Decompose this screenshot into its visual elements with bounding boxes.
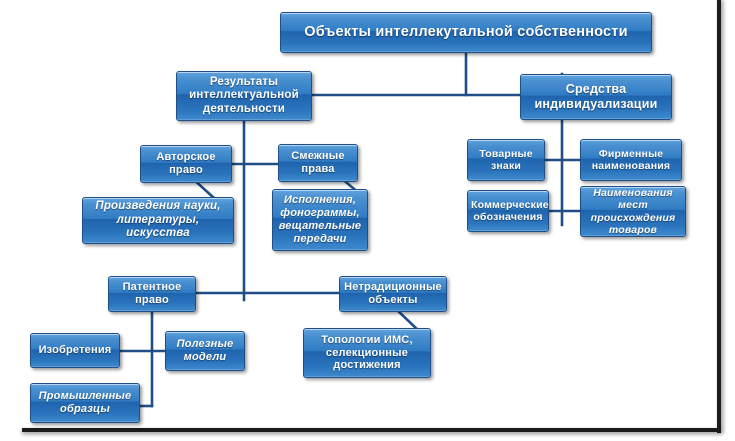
- node-results[interactable]: Результаты интеллектуальной деятельности: [176, 71, 312, 121]
- node-topologies-label: Топологии ИМС, селекционные достижения: [307, 334, 427, 373]
- node-copyright-label: Авторское право: [144, 151, 228, 177]
- node-works-label: Произведения науки, литературы, искусств…: [86, 200, 230, 241]
- node-industrial[interactable]: Промышленные образцы: [30, 383, 140, 423]
- node-patent[interactable]: Патентное право: [108, 276, 196, 312]
- node-root-label: Объекты интеллекутальной собственности: [284, 24, 648, 41]
- node-topologies[interactable]: Топологии ИМС, селекционные достижения: [303, 328, 431, 378]
- node-neighboring[interactable]: Смежные права: [278, 144, 358, 182]
- node-origin-label: Наименования мест происхождения товаров: [584, 187, 682, 237]
- node-industrial-label: Промышленные образцы: [34, 390, 136, 416]
- node-root[interactable]: Объекты интеллекутальной собственности: [280, 12, 652, 53]
- node-origin[interactable]: Наименования мест происхождения товаров: [580, 186, 686, 237]
- node-patent-label: Патентное право: [112, 281, 192, 307]
- node-results-label: Результаты интеллектуальной деятельности: [180, 76, 308, 117]
- node-works[interactable]: Произведения науки, литературы, искусств…: [82, 197, 234, 244]
- node-neighboring-label: Смежные права: [282, 150, 354, 176]
- node-firmnames-label: Фирменные наименования: [584, 148, 678, 173]
- node-means-label: Средства индивидуализации: [524, 82, 668, 112]
- node-utility-label: Полезные модели: [169, 338, 241, 364]
- page-frame-right-edge: [717, 0, 721, 433]
- node-inventions[interactable]: Изобретения: [30, 333, 120, 368]
- diagram-canvas: Объекты интеллекутальной собственности Р…: [0, 0, 735, 441]
- node-firmnames[interactable]: Фирменные наименования: [580, 139, 682, 181]
- node-inventions-label: Изобретения: [34, 344, 116, 357]
- node-trademarks-label: Товарные знаки: [471, 148, 541, 173]
- node-performances-label: Исполнения, фонограммы, вещательные пере…: [276, 194, 364, 246]
- node-commercial[interactable]: Коммерческие обозначения: [467, 190, 549, 232]
- node-trademarks[interactable]: Товарные знаки: [467, 139, 545, 181]
- node-nontrad[interactable]: Нетрадиционные объекты: [339, 276, 447, 312]
- node-copyright[interactable]: Авторское право: [140, 145, 232, 183]
- node-means[interactable]: Средства индивидуализации: [520, 74, 672, 120]
- page-frame-bottom-edge: [22, 428, 721, 432]
- node-performances[interactable]: Исполнения, фонограммы, вещательные пере…: [272, 189, 368, 251]
- node-nontrad-label: Нетрадиционные объекты: [343, 281, 443, 307]
- node-utility[interactable]: Полезные модели: [165, 331, 245, 371]
- node-commercial-label: Коммерческие обозначения: [471, 199, 545, 224]
